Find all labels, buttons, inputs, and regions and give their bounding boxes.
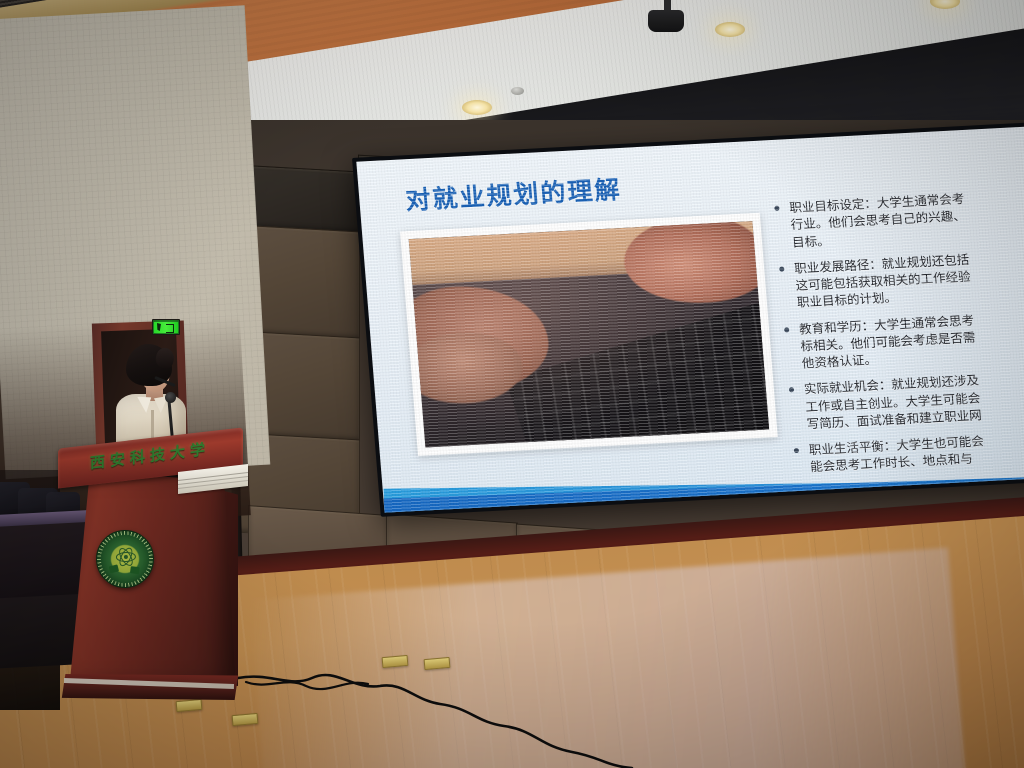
screen-bezel: 对就业规划的理解 职业目标设定：大学生通常会 (352, 121, 1024, 516)
emergency-exit-sign (152, 319, 180, 335)
slide-title: 对就业规划的理解 (404, 170, 623, 217)
floor-socket-cover (176, 699, 203, 712)
crest-book-icon (130, 566, 140, 574)
slide-surface: 对就业规划的理解 职业目标设定：大学生通常会 (356, 126, 1024, 513)
photo-lighting (409, 221, 769, 447)
projector-body (648, 10, 684, 32)
downlight-4 (715, 22, 745, 37)
bullet-item: 教育和学历：大学生通常会思考 标相关。他们可能会考虑是否需 他资格认证。 (782, 307, 1024, 373)
bullet-dot-icon (779, 266, 784, 271)
crest-atom-icon (116, 547, 137, 568)
slide-photo-frame (400, 213, 778, 456)
bullet-item: 职业生活平衡：大学生也可能会 能会思考工作时长、地点和与 (792, 428, 1024, 477)
bullet-dot-icon (784, 327, 789, 332)
microphone-head (165, 392, 176, 403)
bullet-item: 职业目标设定：大学生通常会考 行业。他们会思考自己的兴趣、 目标。 (773, 186, 1024, 252)
exit-sign-glow (154, 322, 178, 333)
slide-bullet-list: 职业目标设定：大学生通常会考 行业。他们会思考自己的兴趣、 目标。 职业发展路径… (773, 186, 1024, 513)
floor-socket-cover (232, 713, 259, 726)
ceiling-projector-mount (648, 0, 688, 34)
podium: 西安科技大学 (58, 438, 243, 700)
lecture-hall-scene: 对就业规划的理解 职业目标设定：大学生通常会 (0, 0, 1024, 768)
slide-photo-laptop-typing (409, 221, 769, 447)
bullet-dot-icon (774, 206, 779, 211)
downlight-3 (462, 100, 492, 115)
floor-socket-cover (424, 657, 451, 670)
bullet-item: 实际就业机会：就业规划还涉及 工作或自主创业。大学生可能会 写简历、面试准备和建… (787, 367, 1024, 433)
floor-socket-cover (382, 655, 409, 668)
bullet-dot-icon (794, 448, 799, 453)
presentation-screen: 对就业规划的理解 职业目标设定：大学生通常会 (352, 121, 1024, 516)
podium-front-panel (66, 472, 236, 687)
bullet-item: 职业发展路径：就业规划还包括 这可能包括获取相关的工作经验 职业目标的计划。 (778, 246, 1024, 312)
bullet-dot-icon (789, 387, 794, 392)
smoke-detector-2 (511, 87, 524, 95)
